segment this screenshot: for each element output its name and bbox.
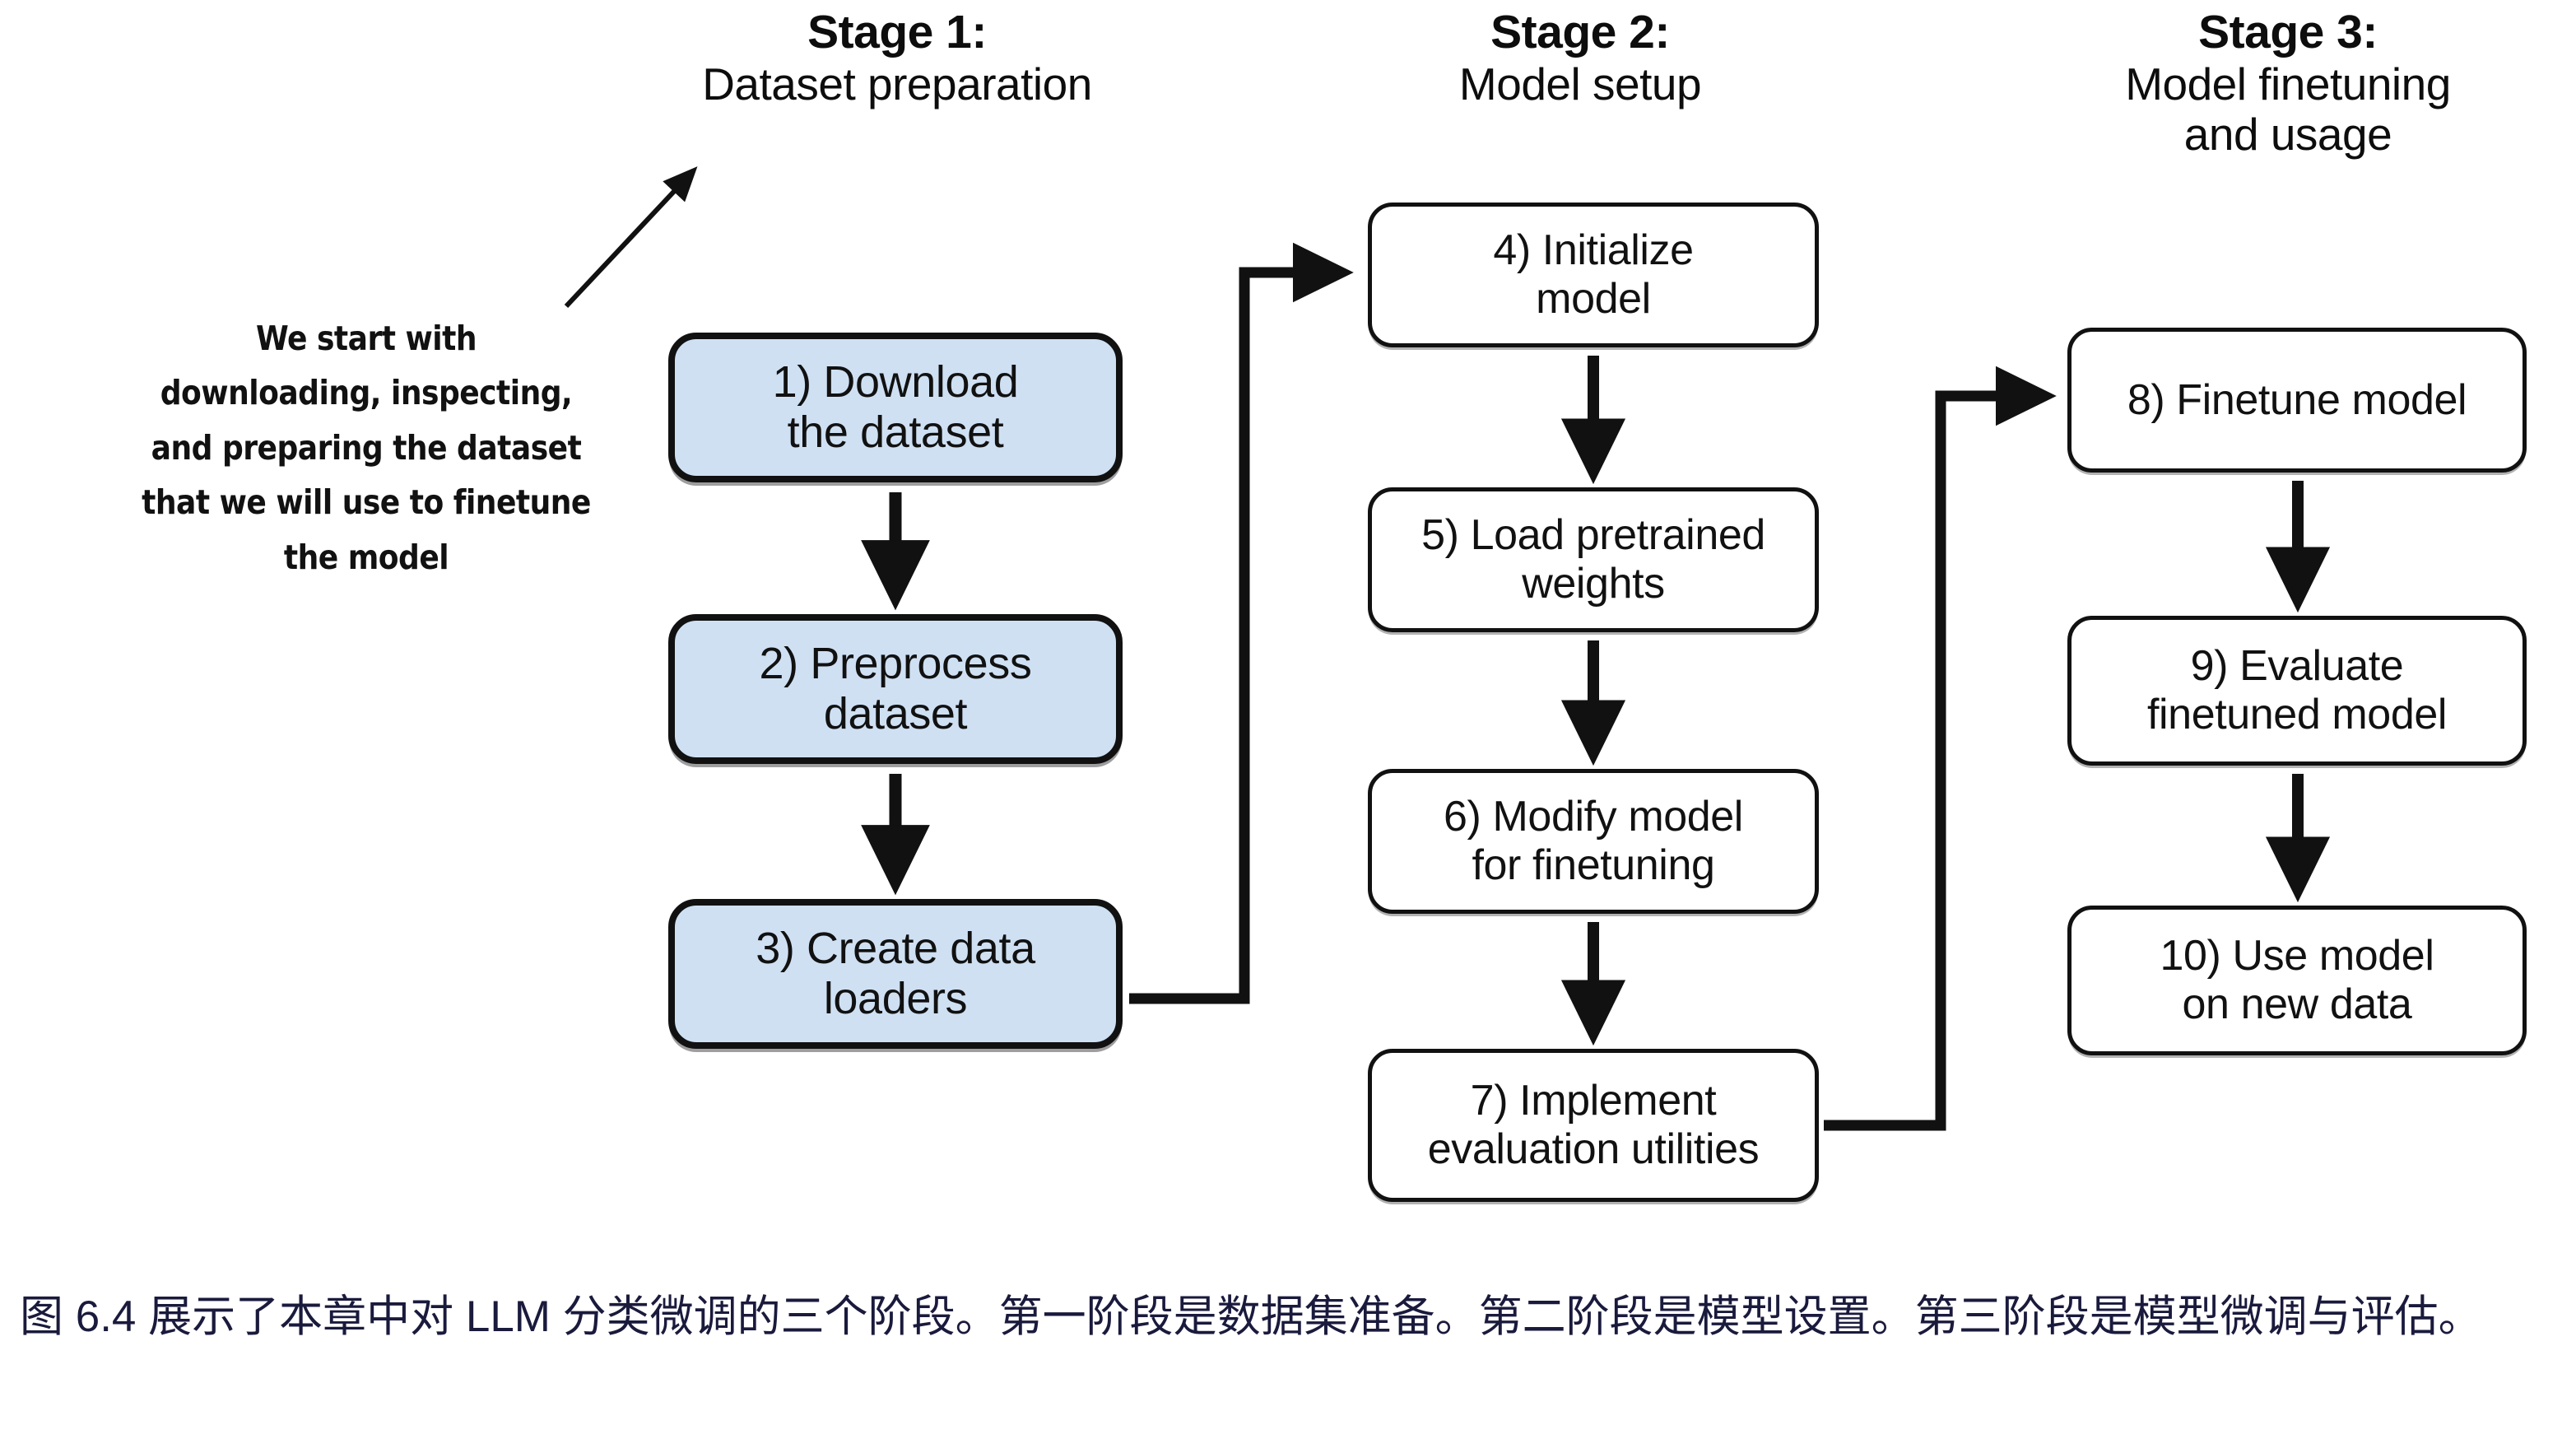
stage-2-title: Stage 2: bbox=[1284, 7, 1876, 59]
figure-canvas: Stage 1: Dataset preparation Stage 2: Mo… bbox=[0, 0, 2576, 1439]
flow-node-label: 5) Load pretrainedweights bbox=[1421, 511, 1765, 608]
figure-caption-text: 图 6.4 展示了本章中对 LLM 分类微调的三个阶段。第一阶段是数据集准备。第… bbox=[20, 1292, 2482, 1341]
flow-node-label: 3) Create dataloaders bbox=[756, 924, 1035, 1024]
annotation-text: We start withdownloading, inspecting,and… bbox=[142, 319, 591, 577]
stage-1-title: Stage 1: bbox=[560, 7, 1235, 59]
stage-3-title: Stage 3: bbox=[1992, 7, 2576, 59]
flow-node-preprocess-dataset[interactable]: 2) Preprocessdataset bbox=[668, 614, 1123, 764]
flow-node-evaluate-finetuned-model[interactable]: 9) Evaluatefinetuned model bbox=[2067, 616, 2527, 766]
flow-node-create-data-loaders[interactable]: 3) Create dataloaders bbox=[668, 899, 1123, 1049]
flow-node-implement-evaluation-utilities[interactable]: 7) Implementevaluation utilities bbox=[1368, 1049, 1819, 1202]
annotation-pointer-arrow bbox=[566, 171, 693, 306]
stage-1-subtitle: Dataset preparation bbox=[560, 59, 1235, 110]
flow-node-label: 10) Use modelon new data bbox=[2160, 932, 2434, 1029]
flow-node-label: 1) Downloadthe dataset bbox=[773, 357, 1019, 458]
flow-node-finetune-model[interactable]: 8) Finetune model bbox=[2067, 328, 2527, 473]
annotation-note: We start withdownloading, inspecting,and… bbox=[123, 311, 609, 584]
flow-node-label: 6) Modify modelfor finetuning bbox=[1444, 793, 1743, 890]
stage-3-heading: Stage 3: Model finetuningand usage bbox=[1992, 7, 2576, 161]
flow-node-label: 7) Implementevaluation utilities bbox=[1428, 1077, 1759, 1174]
stage-3-subtitle: Model finetuningand usage bbox=[1992, 59, 2576, 161]
flow-node-label: 4) Initializemodel bbox=[1493, 226, 1693, 324]
stage-1-heading: Stage 1: Dataset preparation bbox=[560, 7, 1235, 109]
flow-node-label: 8) Finetune model bbox=[2127, 376, 2467, 425]
stage-2-heading: Stage 2: Model setup bbox=[1284, 7, 1876, 109]
flow-node-download-dataset[interactable]: 1) Downloadthe dataset bbox=[668, 333, 1123, 482]
flow-node-label: 9) Evaluatefinetuned model bbox=[2147, 642, 2447, 739]
flow-node-use-model-on-new-data[interactable]: 10) Use modelon new data bbox=[2067, 906, 2527, 1055]
flow-node-initialize-model[interactable]: 4) Initializemodel bbox=[1368, 203, 1819, 347]
flow-node-modify-model-for-finetuning[interactable]: 6) Modify modelfor finetuning bbox=[1368, 769, 1819, 914]
figure-caption: 图 6.4 展示了本章中对 LLM 分类微调的三个阶段。第一阶段是数据集准备。第… bbox=[20, 1286, 2563, 1348]
arrow-node3-to-node4 bbox=[1129, 272, 1340, 999]
flow-node-load-pretrained-weights[interactable]: 5) Load pretrainedweights bbox=[1368, 487, 1819, 632]
flow-node-label: 2) Preprocessdataset bbox=[760, 639, 1032, 739]
arrow-node7-to-node8 bbox=[1824, 396, 2043, 1125]
stage-2-subtitle: Model setup bbox=[1284, 59, 1876, 110]
